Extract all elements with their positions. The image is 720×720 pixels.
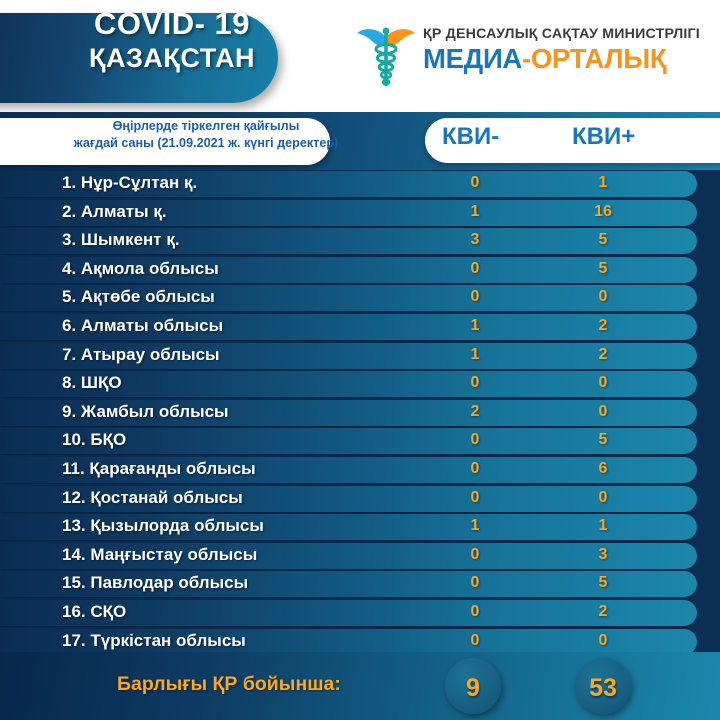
region-kvi-positive: 1 bbox=[578, 517, 628, 535]
region-name: 14. Маңғыстау облысы bbox=[62, 545, 257, 565]
region-kvi-positive: 2 bbox=[578, 603, 628, 621]
region-name: 3. Шымкент қ. bbox=[62, 230, 180, 250]
region-kvi-negative: 1 bbox=[450, 346, 500, 364]
region-name: 17. Түркістан облысы bbox=[62, 631, 246, 651]
region-kvi-positive: 2 bbox=[578, 317, 628, 335]
region-kvi-positive: 5 bbox=[578, 231, 628, 249]
region-name: 7. Атырау облысы bbox=[62, 345, 220, 365]
table-row: 16. СҚО02 bbox=[0, 599, 720, 628]
table-row: 3. Шымкент қ.35 bbox=[0, 227, 720, 256]
region-kvi-positive: 6 bbox=[578, 460, 628, 478]
covid-title-line2: ҚАЗАҚСТАН bbox=[52, 44, 292, 72]
page-title: COVID- 19 ҚАЗАҚСТАН bbox=[52, 8, 292, 72]
subheader-band: Өңірлерде тіркелген қайғылы жағдай саны … bbox=[0, 112, 720, 170]
region-kvi-negative: 0 bbox=[450, 603, 500, 621]
table-row: 7. Атырау облысы12 bbox=[0, 342, 720, 371]
region-kvi-positive: 5 bbox=[578, 574, 628, 592]
header-band: COVID- 19 ҚАЗАҚСТАН Қ bbox=[0, 0, 720, 112]
region-name: 16. СҚО bbox=[62, 602, 126, 622]
total-negative-value: 9 bbox=[445, 674, 501, 703]
region-kvi-negative: 0 bbox=[450, 374, 500, 392]
region-name: 5. Ақтөбе облысы bbox=[62, 287, 215, 307]
caduceus-icon bbox=[355, 22, 417, 92]
footer-total-band: Барлығы ҚР бойынша: 9 53 bbox=[0, 652, 720, 720]
table-row: 12. Қостанай облысы00 bbox=[0, 485, 720, 514]
total-label: Барлығы ҚР бойынша: bbox=[117, 673, 341, 696]
region-kvi-positive: 0 bbox=[578, 374, 628, 392]
region-kvi-negative: 0 bbox=[450, 431, 500, 449]
logo-media-center-line: МЕДИА-ОРТАЛЫҚ bbox=[423, 43, 700, 75]
region-kvi-negative: 0 bbox=[450, 632, 500, 650]
table-row: 11. Қарағанды облысы06 bbox=[0, 456, 720, 485]
region-kvi-positive: 0 bbox=[578, 632, 628, 650]
region-kvi-negative: 1 bbox=[450, 317, 500, 335]
logo-dash: - bbox=[522, 43, 531, 74]
region-kvi-negative: 2 bbox=[450, 403, 500, 421]
column-header-kvi-positive: КВИ+ bbox=[572, 123, 635, 151]
region-name: 13. Қызылорда облысы bbox=[62, 516, 264, 536]
table-row: 8. ШҚО00 bbox=[0, 370, 720, 399]
region-kvi-negative: 0 bbox=[450, 546, 500, 564]
region-kvi-negative: 0 bbox=[450, 460, 500, 478]
region-kvi-positive: 1 bbox=[578, 174, 628, 192]
region-name: 11. Қарағанды облысы bbox=[62, 459, 256, 479]
logo-word-media: МЕДИА bbox=[423, 43, 522, 74]
logo-ministry-line: ҚР ДЕНСАУЛЫҚ САҚТАУ МИНИСТРЛІГІ bbox=[423, 26, 700, 42]
table-row: 13. Қызылорда облысы11 bbox=[0, 513, 720, 542]
subtitle-line2: жағдай саны (21.09.2021 ж. күнгі деректе… bbox=[46, 135, 366, 152]
region-kvi-negative: 1 bbox=[450, 517, 500, 535]
total-positive-value: 53 bbox=[575, 674, 631, 703]
table-row: 14. Маңғыстау облысы03 bbox=[0, 542, 720, 571]
region-kvi-positive: 3 bbox=[578, 546, 628, 564]
region-name: 6. Алматы облысы bbox=[62, 316, 223, 336]
region-name: 12. Қостанай облысы bbox=[62, 488, 243, 508]
region-kvi-negative: 3 bbox=[450, 231, 500, 249]
logo-word-ortalyq: ОРТАЛЫҚ bbox=[531, 43, 667, 74]
region-kvi-positive: 5 bbox=[578, 431, 628, 449]
subtitle-text: Өңірлерде тіркелген қайғылы жағдай саны … bbox=[46, 118, 366, 151]
subtitle-line1: Өңірлерде тіркелген қайғылы bbox=[46, 118, 366, 135]
region-kvi-negative: 1 bbox=[450, 203, 500, 221]
regions-table: 1. Нұр-Сұлтан қ.012. Алматы қ.1163. Шымк… bbox=[0, 170, 720, 652]
infographic-page: COVID- 19 ҚАЗАҚСТАН Қ bbox=[0, 0, 720, 720]
region-kvi-positive: 2 bbox=[578, 346, 628, 364]
table-row: 5. Ақтөбе облысы00 bbox=[0, 284, 720, 313]
region-kvi-negative: 0 bbox=[450, 288, 500, 306]
table-row: 10. БҚО05 bbox=[0, 427, 720, 456]
table-row: 15. Павлодар облысы05 bbox=[0, 570, 720, 599]
table-row: 6. Алматы облысы12 bbox=[0, 313, 720, 342]
column-header-kvi-negative: КВИ- bbox=[442, 123, 499, 151]
table-row: 2. Алматы қ.116 bbox=[0, 199, 720, 228]
table-row: 1. Нұр-Сұлтан қ.01 bbox=[0, 170, 720, 199]
region-name: 8. ШҚО bbox=[62, 373, 122, 393]
region-kvi-positive: 5 bbox=[578, 260, 628, 278]
region-kvi-negative: 0 bbox=[450, 260, 500, 278]
table-row: 4. Ақмола облысы05 bbox=[0, 256, 720, 285]
region-kvi-positive: 0 bbox=[578, 403, 628, 421]
table-row: 9. Жамбыл облысы20 bbox=[0, 399, 720, 428]
region-name: 10. БҚО bbox=[62, 430, 126, 450]
region-kvi-negative: 0 bbox=[450, 174, 500, 192]
region-kvi-negative: 0 bbox=[450, 574, 500, 592]
region-name: 9. Жамбыл облысы bbox=[62, 402, 229, 422]
region-kvi-negative: 0 bbox=[450, 489, 500, 507]
region-name: 4. Ақмола облысы bbox=[62, 259, 219, 279]
region-kvi-positive: 16 bbox=[578, 203, 628, 221]
region-name: 15. Павлодар облысы bbox=[62, 573, 248, 593]
region-kvi-positive: 0 bbox=[578, 489, 628, 507]
logo-text: ҚР ДЕНСАУЛЫҚ САҚТАУ МИНИСТРЛІГІ МЕДИА-ОР… bbox=[423, 26, 700, 75]
region-kvi-positive: 0 bbox=[578, 288, 628, 306]
region-name: 1. Нұр-Сұлтан қ. bbox=[62, 173, 197, 193]
covid-title-line1: COVID- 19 bbox=[94, 6, 250, 41]
region-name: 2. Алматы қ. bbox=[62, 202, 167, 222]
